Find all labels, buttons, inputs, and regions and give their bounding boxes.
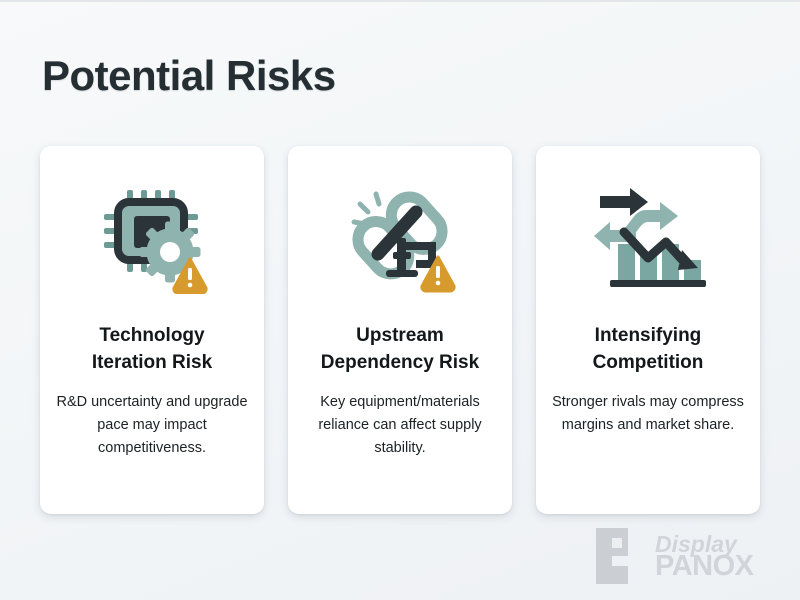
card-title-line2: Iteration Risk [92,352,212,373]
page-title: Potential Risks [42,52,336,100]
card-title-line1: Upstream [356,325,444,346]
watermark-logo-icon [592,526,650,586]
slide-canvas: Potential Risks [0,0,800,600]
risk-card-upstream-dependency[interactable]: Upstream Dependency Risk Key equipment/m… [288,146,512,514]
card-title-line1: Technology [99,325,204,346]
risk-cards-container: Technology Iteration Risk R&D uncertaint… [40,146,760,514]
card-title-line1: Intensifying [595,325,702,346]
watermark-text: Display PANOX [655,532,753,580]
watermark-line2: PANOX [655,554,753,580]
card-title: Intensifying Competition [593,322,704,377]
card-title: Technology Iteration Risk [92,322,212,377]
chip-gear-warning-icon [90,180,214,296]
card-body: Stronger rivals may compress margins and… [552,391,744,437]
declining-bar-chart-arrows-icon [586,180,710,296]
card-title-line2: Competition [593,352,704,373]
card-title: Upstream Dependency Risk [321,322,479,377]
watermark: Display PANOX [592,522,792,590]
card-body: Key equipment/materials reliance can aff… [304,391,496,460]
risk-card-intensifying-competition[interactable]: Intensifying Competition Stronger rivals… [536,146,760,514]
risk-card-technology-iteration[interactable]: Technology Iteration Risk R&D uncertaint… [40,146,264,514]
card-title-line2: Dependency Risk [321,352,479,373]
card-body: R&D uncertainty and upgrade pace may imp… [56,391,248,460]
broken-chain-clamp-warning-icon [338,180,462,296]
